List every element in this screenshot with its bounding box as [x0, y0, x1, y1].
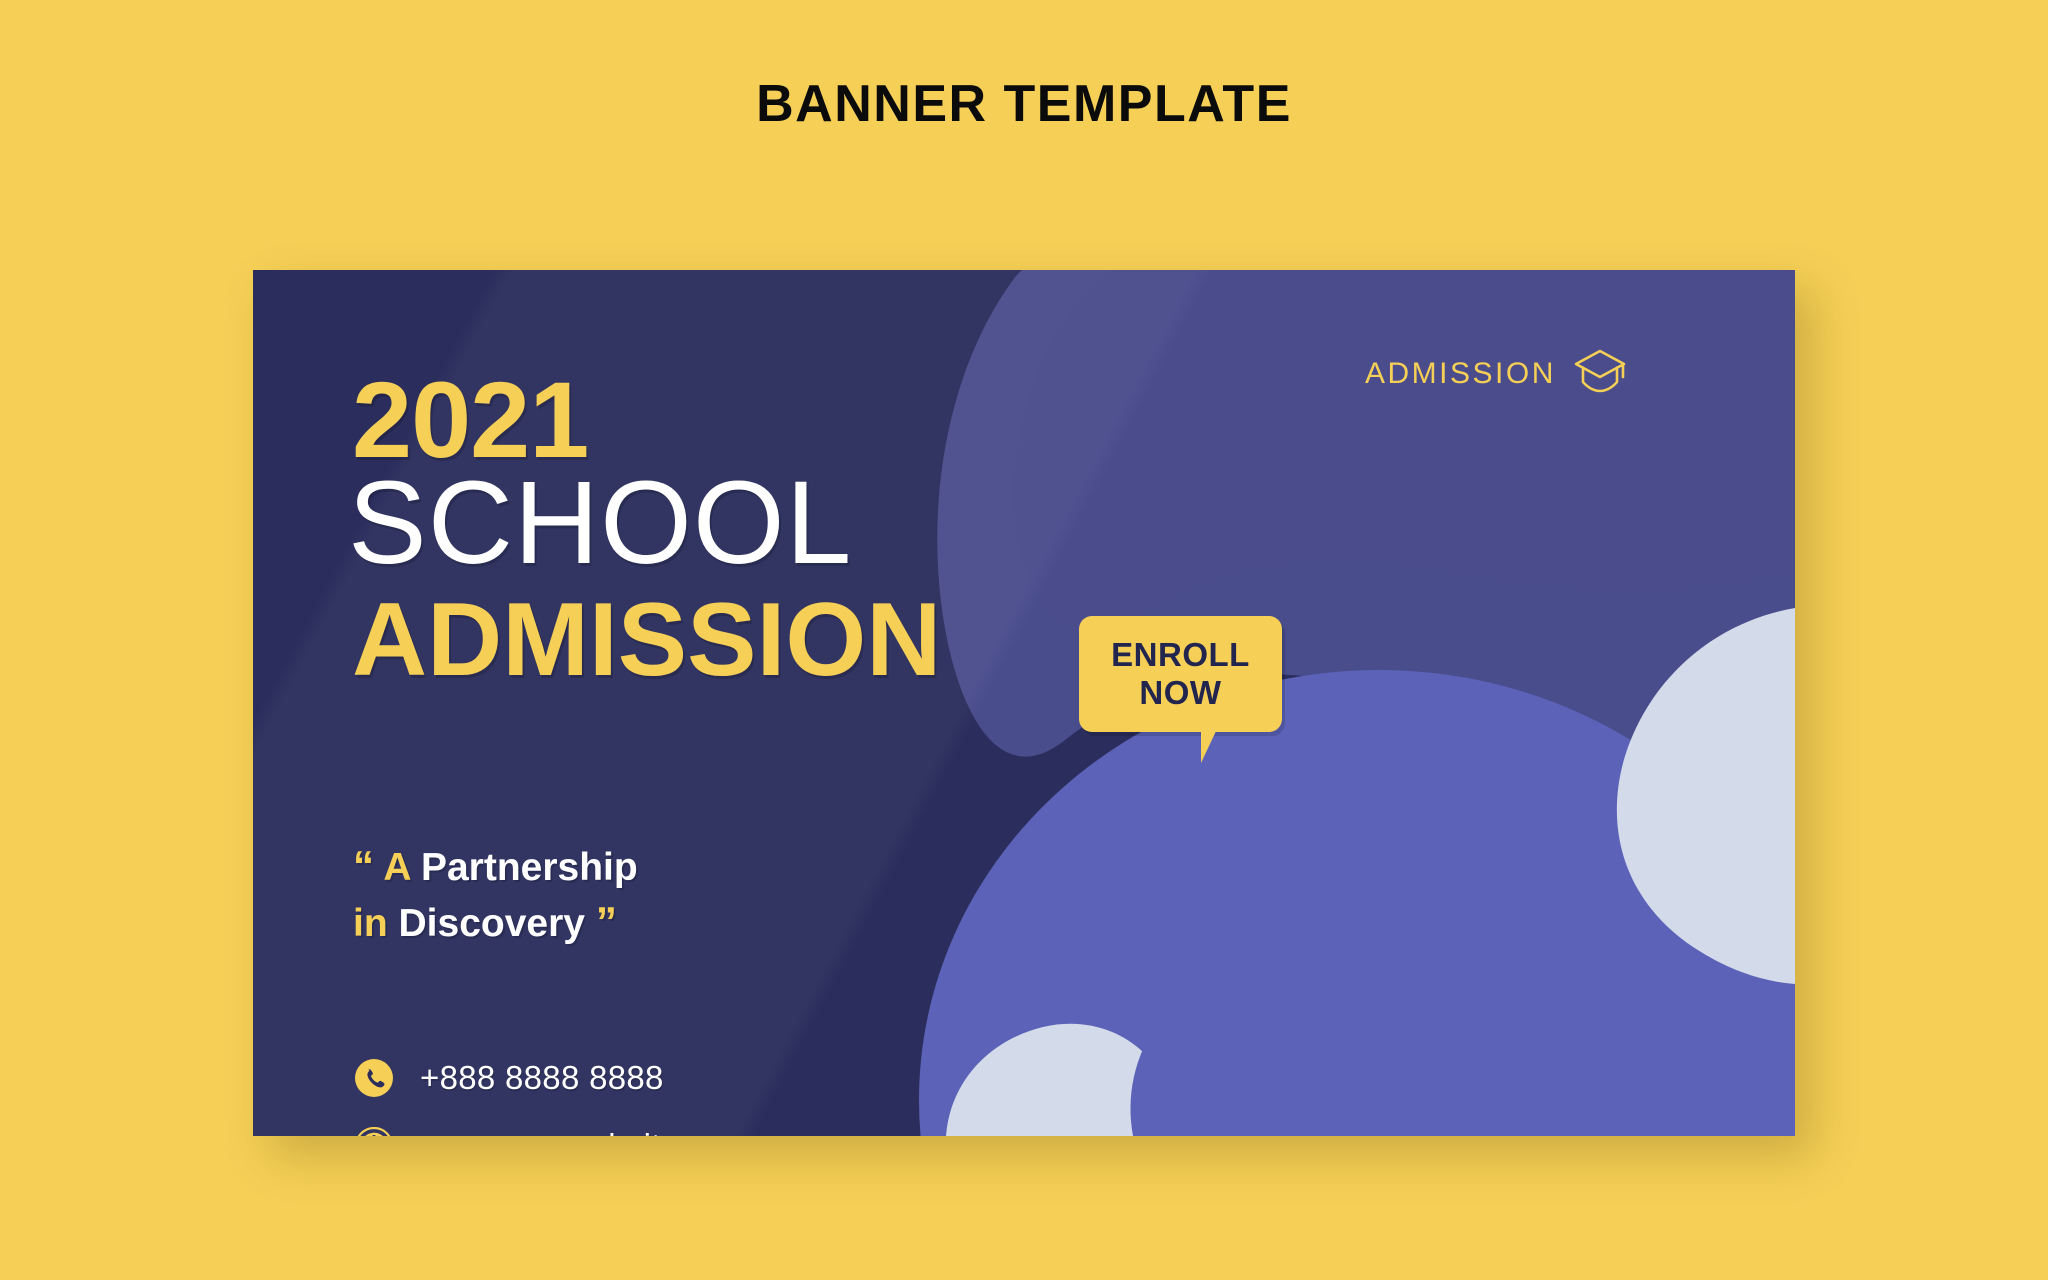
heading-school: SCHOOL: [348, 464, 852, 582]
tagline-line-1: “ A Partnership: [353, 838, 638, 894]
banner-content-left: 2021 SCHOOL ADMISSION “ A Partnership in…: [352, 270, 1052, 1136]
admission-logo-text: ADMISSION: [1365, 357, 1556, 391]
enroll-now-line-2: NOW: [1139, 674, 1221, 712]
graduation-cap-icon: [1573, 346, 1629, 402]
admission-logo[interactable]: ADMISSION: [1365, 346, 1629, 402]
enroll-now-label: ENROLL NOW: [1079, 616, 1282, 732]
heading-admission: ADMISSION: [352, 588, 941, 692]
page-title: BANNER TEMPLATE: [0, 74, 2048, 134]
page-root: BANNER TEMPLATE: [0, 0, 2048, 1280]
tagline-white-word-1: Partnership: [421, 846, 638, 889]
contact-phone-text: +888 8888 8888: [420, 1059, 664, 1097]
banner-card: 2021 SCHOOL ADMISSION “ A Partnership in…: [253, 270, 1795, 1136]
open-quote-mark: “: [353, 842, 374, 889]
globe-icon: [355, 1127, 393, 1136]
tagline-accent-word-1: A: [383, 846, 410, 889]
tagline: “ A Partnership in Discovery ”: [353, 838, 638, 950]
contact-block: +888 8888 8888 www.yourwebsite.co: [355, 1050, 995, 1136]
tagline-white-word-2: Discovery: [399, 902, 585, 945]
tagline-line-2: in Discovery ”: [353, 894, 638, 950]
phone-icon: [355, 1059, 393, 1097]
close-quote-mark: ”: [596, 898, 617, 945]
speech-bubble-tail-icon: [1201, 729, 1229, 763]
enroll-now-button[interactable]: ENROLL NOW: [1079, 616, 1282, 732]
tagline-accent-word-2: in: [353, 902, 388, 945]
enroll-now-line-1: ENROLL: [1111, 636, 1250, 674]
contact-row-phone[interactable]: +888 8888 8888: [355, 1050, 995, 1106]
contact-website-text: www.yourwebsite.com: [420, 1127, 752, 1136]
contact-row-website[interactable]: www.yourwebsite.com: [355, 1118, 995, 1136]
